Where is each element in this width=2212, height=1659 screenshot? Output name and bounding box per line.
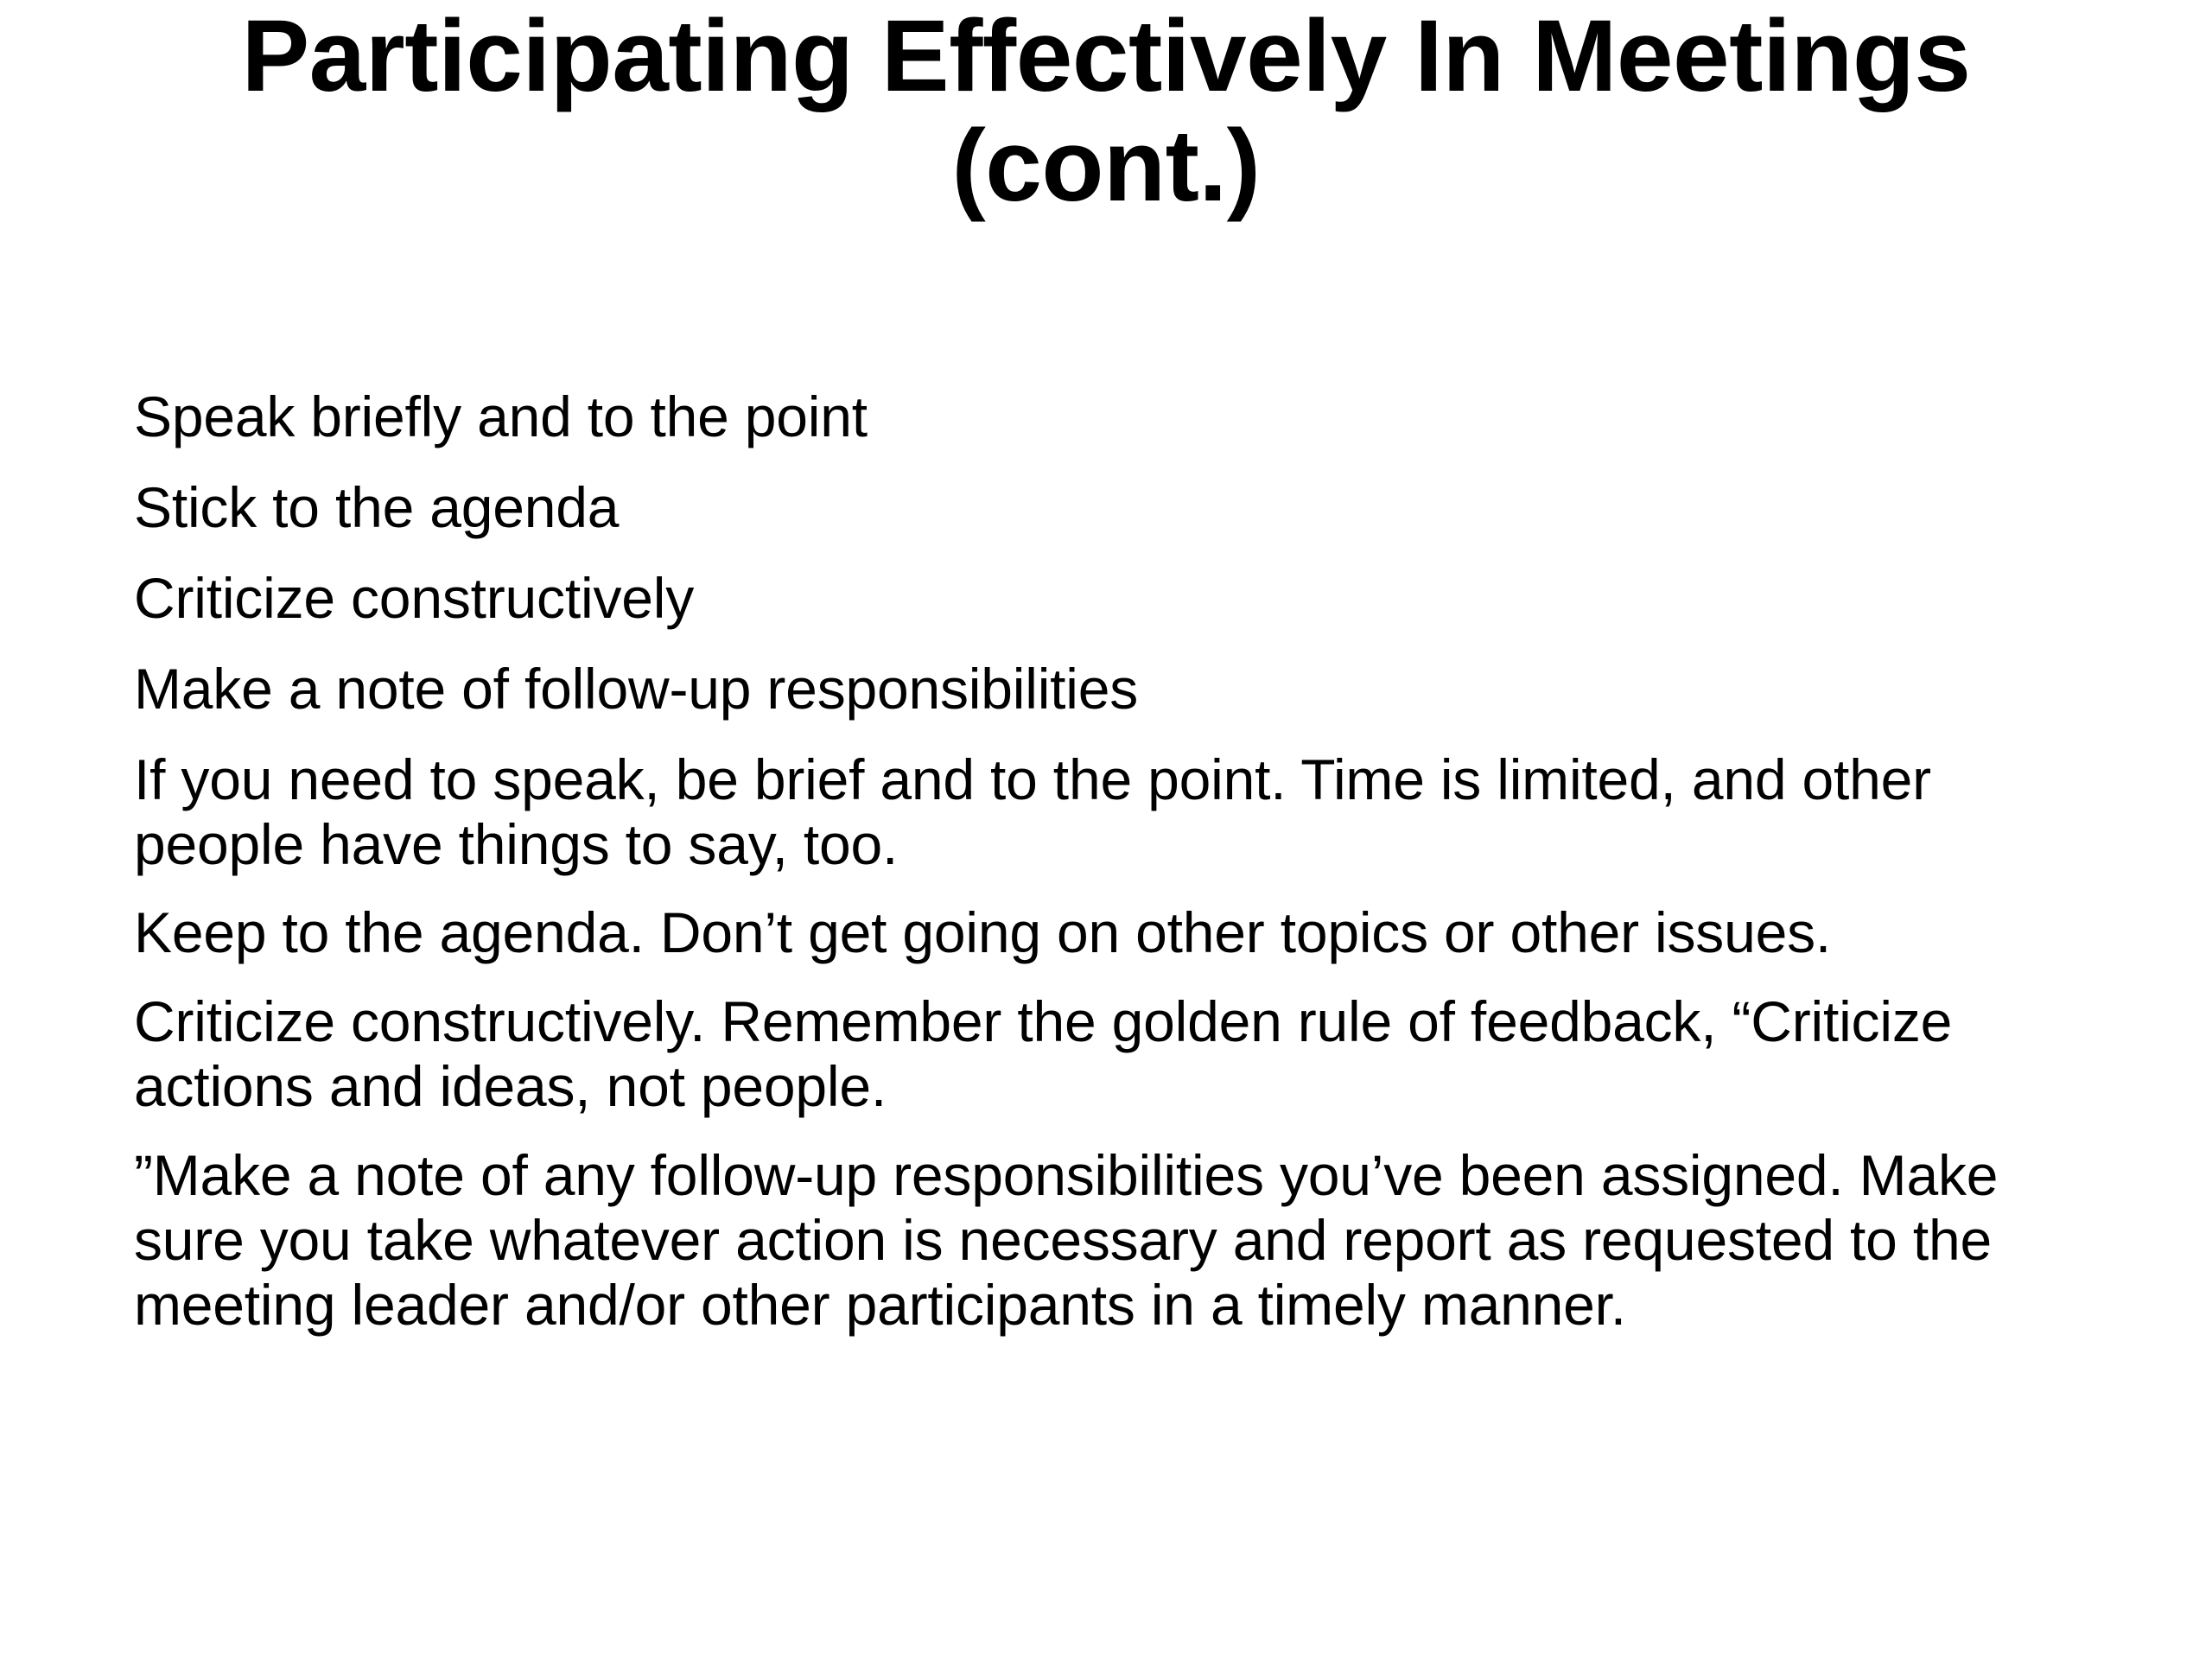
slide-title: Participating Effectively In Meetings (c…: [121, 0, 2091, 222]
body-item-stick-to-agenda: Stick to the agenda: [134, 475, 2087, 540]
body-item-criticize-constructively: Criticize constructively: [134, 566, 2087, 631]
body-item-keep-to-agenda: Keep to the agenda. Don’t get going on o…: [134, 900, 2087, 965]
presentation-slide: Participating Effectively In Meetings (c…: [0, 0, 2212, 1659]
slide-body: Speak briefly and to the point Stick to …: [134, 385, 2087, 1338]
body-item-speak-briefly: Speak briefly and to the point: [134, 385, 2087, 449]
body-item-make-note-followup: Make a note of follow-up responsibilitie…: [134, 657, 2087, 721]
body-item-golden-rule-feedback: Criticize constructively. Remember the g…: [134, 989, 2087, 1119]
body-item-if-you-need-to-speak: If you need to speak, be brief and to th…: [134, 747, 2087, 877]
body-item-followup-responsibilities: ”Make a note of any follow-up responsibi…: [134, 1143, 2087, 1338]
slide-title-block: Participating Effectively In Meetings (c…: [0, 0, 2212, 222]
